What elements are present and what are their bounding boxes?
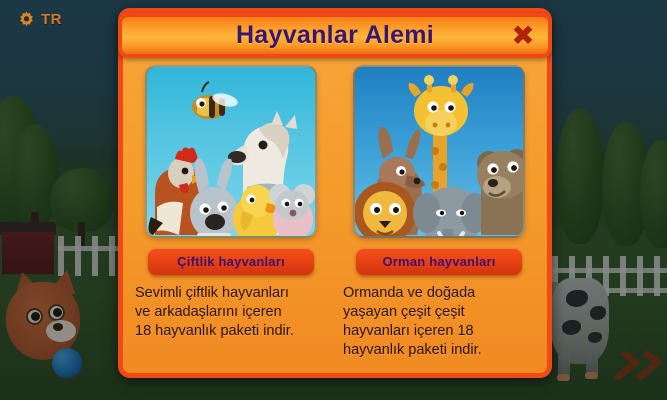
desc-line: hayvanları içeren 18 — [343, 322, 535, 341]
app-stage: TR Hayvanlar Alemi ✖ — [0, 0, 667, 400]
forest-pack-button[interactable]: Orman hayvanları — [356, 248, 522, 275]
pack-column-forest: Orman hayvanları Ormanda ve doğada yaşay… — [335, 59, 543, 373]
close-icon: ✖ — [511, 22, 534, 50]
forest-pack-description: Ormanda ve doğada yaşayan çeşit çeşit ha… — [343, 284, 535, 359]
animal-packs-dialog: Hayvanlar Alemi ✖ — [118, 8, 552, 378]
desc-line: Sevimli çiftlik hayvanları — [135, 284, 327, 303]
farm-pack-button[interactable]: Çiftlik hayvanları — [148, 248, 314, 275]
close-button[interactable]: ✖ — [508, 21, 538, 51]
packs-container: Çiftlik hayvanları Sevimli çiftlik hayva… — [123, 59, 547, 373]
pack-column-farm: Çiftlik hayvanları Sevimli çiftlik hayva… — [127, 59, 335, 373]
desc-line: Ormanda ve doğada — [343, 284, 535, 303]
gear-icon[interactable] — [17, 10, 36, 29]
dialog-title-bar: Hayvanlar Alemi ✖ — [118, 13, 552, 58]
language-indicator[interactable]: TR — [41, 11, 62, 28]
desc-line: 18 hayvanlık paketi indir. — [135, 322, 327, 341]
forest-animals-thumbnail[interactable] — [353, 65, 525, 238]
farm-animals-thumbnail[interactable] — [145, 65, 317, 238]
desc-line: hayvanlık paketi indir. — [343, 341, 535, 360]
farm-pack-description: Sevimli çiftlik hayvanları ve arkadaşlar… — [135, 284, 327, 341]
desc-line: ve arkadaşlarını içeren — [135, 303, 327, 322]
desc-line: yaşayan çeşit çeşit — [343, 303, 535, 322]
settings-hud[interactable]: TR — [17, 10, 62, 29]
page-title: Hayvanlar Alemi — [236, 21, 434, 50]
